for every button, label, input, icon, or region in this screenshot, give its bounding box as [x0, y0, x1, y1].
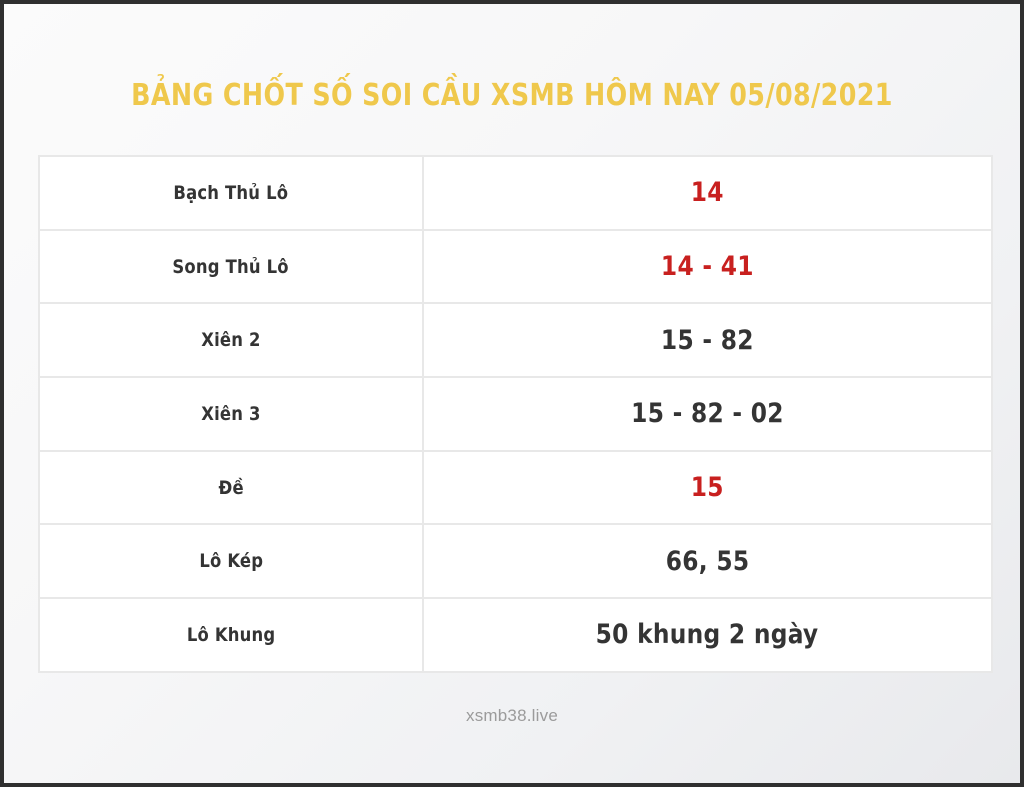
- row-value-highlighted: 15: [691, 472, 724, 503]
- row-label: Lô Khung: [187, 624, 276, 646]
- row-value-cell: 50 khung 2 ngày: [423, 598, 992, 672]
- page-frame: BẢNG CHỐT SỐ SOI CẦU XSMB HÔM NAY 05/08/…: [0, 0, 1024, 787]
- row-label: Xiên 2: [201, 329, 260, 351]
- table-row: Bạch Thủ Lô14: [39, 156, 992, 230]
- site-watermark: xsmb38.live: [4, 706, 1020, 726]
- row-label-cell: Song Thủ Lô: [39, 230, 423, 304]
- table-row: Xiên 315 - 82 - 02: [39, 377, 992, 451]
- lottery-prediction-table: Bạch Thủ Lô14Song Thủ Lô14 - 41Xiên 215 …: [38, 155, 993, 673]
- row-label: Lô Kép: [199, 550, 263, 572]
- row-value-cell: 14: [423, 156, 992, 230]
- table-row: Xiên 215 - 82: [39, 303, 992, 377]
- row-value: 66, 55: [666, 546, 750, 577]
- row-label-cell: Xiên 3: [39, 377, 423, 451]
- row-label: Đề: [218, 477, 243, 499]
- row-value-cell: 15: [423, 451, 992, 525]
- row-label: Xiên 3: [201, 403, 260, 425]
- table-row: Lô Kép66, 55: [39, 524, 992, 598]
- row-value-highlighted: 14 - 41: [661, 251, 754, 282]
- table-row: Song Thủ Lô14 - 41: [39, 230, 992, 304]
- table-row: Lô Khung50 khung 2 ngày: [39, 598, 992, 672]
- row-label-cell: Lô Kép: [39, 524, 423, 598]
- row-label: Song Thủ Lô: [173, 256, 289, 278]
- table-body: Bạch Thủ Lô14Song Thủ Lô14 - 41Xiên 215 …: [39, 156, 992, 672]
- row-label: Bạch Thủ Lô: [174, 182, 289, 204]
- row-value-cell: 15 - 82 - 02: [423, 377, 992, 451]
- row-value-cell: 14 - 41: [423, 230, 992, 304]
- row-value: 15 - 82: [661, 325, 754, 356]
- page-content: BẢNG CHỐT SỐ SOI CẦU XSMB HÔM NAY 05/08/…: [4, 4, 1020, 783]
- row-label-cell: Xiên 2: [39, 303, 423, 377]
- row-label-cell: Đề: [39, 451, 423, 525]
- row-value-cell: 66, 55: [423, 524, 992, 598]
- row-value: 15 - 82 - 02: [631, 398, 784, 429]
- row-label-cell: Bạch Thủ Lô: [39, 156, 423, 230]
- row-value-cell: 15 - 82: [423, 303, 992, 377]
- row-value-highlighted: 14: [691, 177, 724, 208]
- row-label-cell: Lô Khung: [39, 598, 423, 672]
- row-value: 50 khung 2 ngày: [596, 619, 819, 650]
- table-row: Đề15: [39, 451, 992, 525]
- page-title: BẢNG CHỐT SỐ SOI CẦU XSMB HÔM NAY 05/08/…: [34, 78, 989, 113]
